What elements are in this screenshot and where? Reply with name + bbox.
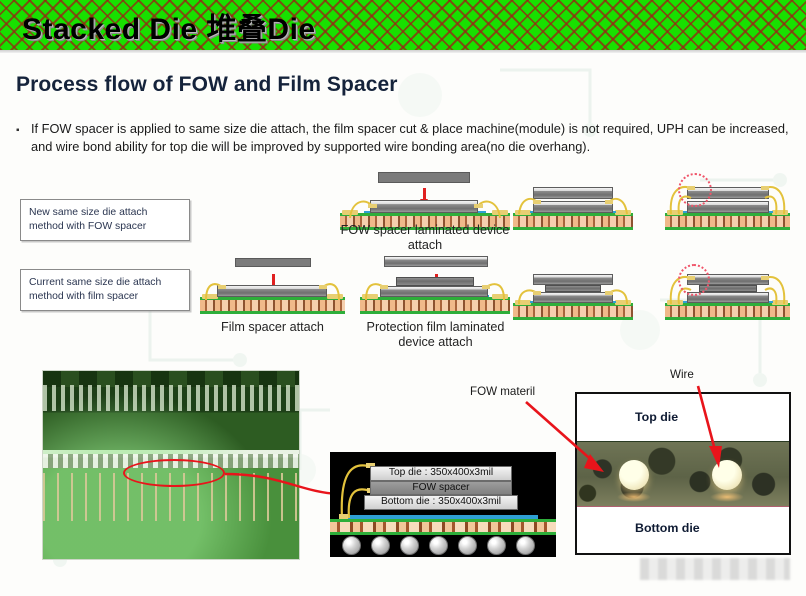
solder-ball — [458, 536, 477, 555]
incoming-die — [378, 172, 470, 183]
photo-highlight-ellipse — [123, 459, 225, 487]
solder-ball — [487, 536, 506, 555]
caption-film-spacer-attach-text: Film spacer attach — [221, 320, 324, 334]
process-step-fow-stacked — [513, 175, 633, 230]
xsec-top-die-label: Top die : 350x400x3mil — [370, 466, 512, 481]
page-title: Process flow of FOW and Film Spacer — [16, 73, 398, 97]
solder-ball — [400, 536, 419, 555]
process-step-film-wirebond — [665, 268, 790, 320]
caption-fow-laminated: FOW spacer laminated device attach — [335, 223, 515, 253]
photo-top-die-label: Top die — [635, 410, 678, 424]
slide-title-banner: Stacked Die 堆叠Die — [0, 0, 806, 50]
incoming-die — [384, 256, 488, 267]
slide-title: Stacked Die 堆叠Die — [22, 4, 316, 48]
caption-film-spacer-attach: Film spacer attach — [195, 320, 350, 335]
footer-watermark — [640, 558, 790, 580]
title-divider — [0, 50, 806, 53]
film-spacer — [235, 258, 311, 267]
wire-loops — [513, 194, 633, 216]
process-step-film-stacked — [513, 268, 633, 320]
leader-fow-material — [518, 400, 628, 480]
wire-loops — [200, 278, 345, 302]
ball-glow — [710, 492, 744, 502]
leader-wire — [680, 384, 740, 474]
label-box-fow-method: New same size die attach method with FOW… — [20, 199, 190, 241]
xsec-substrate — [330, 519, 556, 535]
bullet-marker-icon: ▪ — [16, 126, 25, 156]
caption-fow-laminated-text: FOW spacer laminated device attach — [341, 223, 510, 252]
solder-ball — [429, 536, 448, 555]
annotation-fow-material: FOW materil — [470, 385, 535, 398]
solder-ball — [371, 536, 390, 555]
label-box-film-method: Current same size die attach method with… — [20, 269, 190, 311]
slide-root: Stacked Die 堆叠Die Process flow of FOW an… — [0, 0, 806, 596]
process-step-fow-laminated — [340, 172, 510, 230]
annotation-wire: Wire — [670, 368, 694, 381]
bullet-item: ▪ If FOW spacer is applied to same size … — [16, 120, 791, 156]
photo-chip-rows — [43, 371, 299, 454]
wirebond-highlight-circle — [678, 173, 712, 207]
process-step-film-spacer-attach — [200, 258, 345, 314]
caption-protection-film: Protection film laminated device attach — [348, 320, 523, 350]
process-step-fow-wirebond — [665, 175, 790, 230]
xsec-bottom-die-label: Bottom die : 350x400x3mil — [364, 495, 518, 510]
bullet-text: If FOW spacer is applied to same size di… — [31, 120, 791, 156]
solder-ball — [342, 536, 361, 555]
wirebond-highlight-circle — [678, 264, 710, 296]
wire-loops — [513, 286, 633, 306]
top-die — [533, 274, 613, 285]
photo-bottom-die-label: Bottom die — [635, 521, 700, 535]
process-step-protection-film — [360, 256, 510, 314]
ball-glow — [617, 492, 651, 502]
wire-loops — [360, 278, 510, 302]
solder-ball — [516, 536, 535, 555]
xsec-fow-spacer-label: FOW spacer — [370, 481, 512, 495]
wire-loops — [340, 194, 510, 220]
caption-protection-film-text: Protection film laminated device attach — [367, 320, 505, 349]
